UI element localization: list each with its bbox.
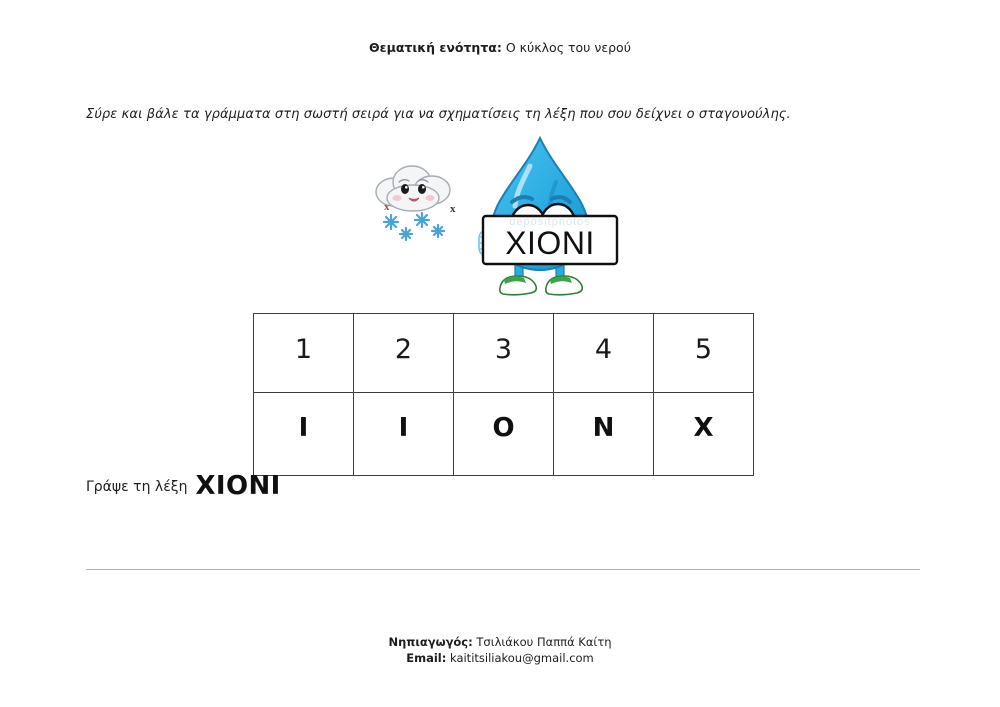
footer-email-row: Email: kaititsiliakou@gmail.com <box>0 650 1000 666</box>
mark-x-dark: x <box>450 204 456 215</box>
teacher-name: Τσιλιάκου Παππά Καίτη <box>476 635 611 649</box>
snowflake-icons <box>384 213 444 240</box>
header-label: Θεματική ενότητα: <box>369 40 502 55</box>
letter-tile-4[interactable]: Ν <box>554 393 654 476</box>
header-value: Ο κύκλος του νερού <box>506 40 631 55</box>
number-cell-3[interactable]: 3 <box>454 314 554 399</box>
letter-tile-2[interactable]: Ι <box>354 393 454 476</box>
write-word-answer: ΧΙΟΝΙ <box>195 471 280 501</box>
document-header: Θεματική ενότητα: Ο κύκλος του νερού <box>0 40 1000 56</box>
footer-divider <box>86 569 920 570</box>
number-cell-1[interactable]: 1 <box>254 314 354 399</box>
instruction-text: Σύρε και βάλε τα γράμματα στη σωστή σειρ… <box>86 105 916 124</box>
footer-teacher-row: Νηπιαγωγός: Τσιλιάκου Παππά Καίτη <box>0 634 1000 650</box>
email-label: Email: <box>406 651 446 665</box>
write-word-label: Γράψε τη λέξη <box>86 479 187 495</box>
illustration: depositphotos ΧΙΟΝΙ x x <box>360 130 650 310</box>
email-address[interactable]: kaititsiliakou@gmail.com <box>450 651 594 665</box>
teacher-label: Νηπιαγωγός: <box>388 635 472 649</box>
letter-tile-3[interactable]: Ο <box>454 393 554 476</box>
table-row: Ι Ι Ο Ν Χ <box>254 393 754 476</box>
number-slots-table: 1 2 3 4 5 <box>253 313 754 399</box>
write-word-prompt: Γράψε τη λέξηΧΙΟΝΙ <box>86 472 281 501</box>
mark-x-red: x <box>384 202 390 213</box>
letter-tile-5[interactable]: Χ <box>654 393 754 476</box>
table-row: 1 2 3 4 5 <box>254 314 754 399</box>
number-cell-4[interactable]: 4 <box>554 314 654 399</box>
number-cell-5[interactable]: 5 <box>654 314 754 399</box>
sign-word: ΧΙΟΝΙ <box>485 225 615 262</box>
letter-tiles-table: Ι Ι Ο Ν Χ <box>253 392 754 476</box>
letter-tile-1[interactable]: Ι <box>254 393 354 476</box>
worksheet-page: Θεματική ενότητα: Ο κύκλος του νερού Σύρ… <box>0 0 1000 707</box>
document-footer: Νηπιαγωγός: Τσιλιάκου Παππά Καίτη Email:… <box>0 634 1000 666</box>
number-cell-2[interactable]: 2 <box>354 314 454 399</box>
